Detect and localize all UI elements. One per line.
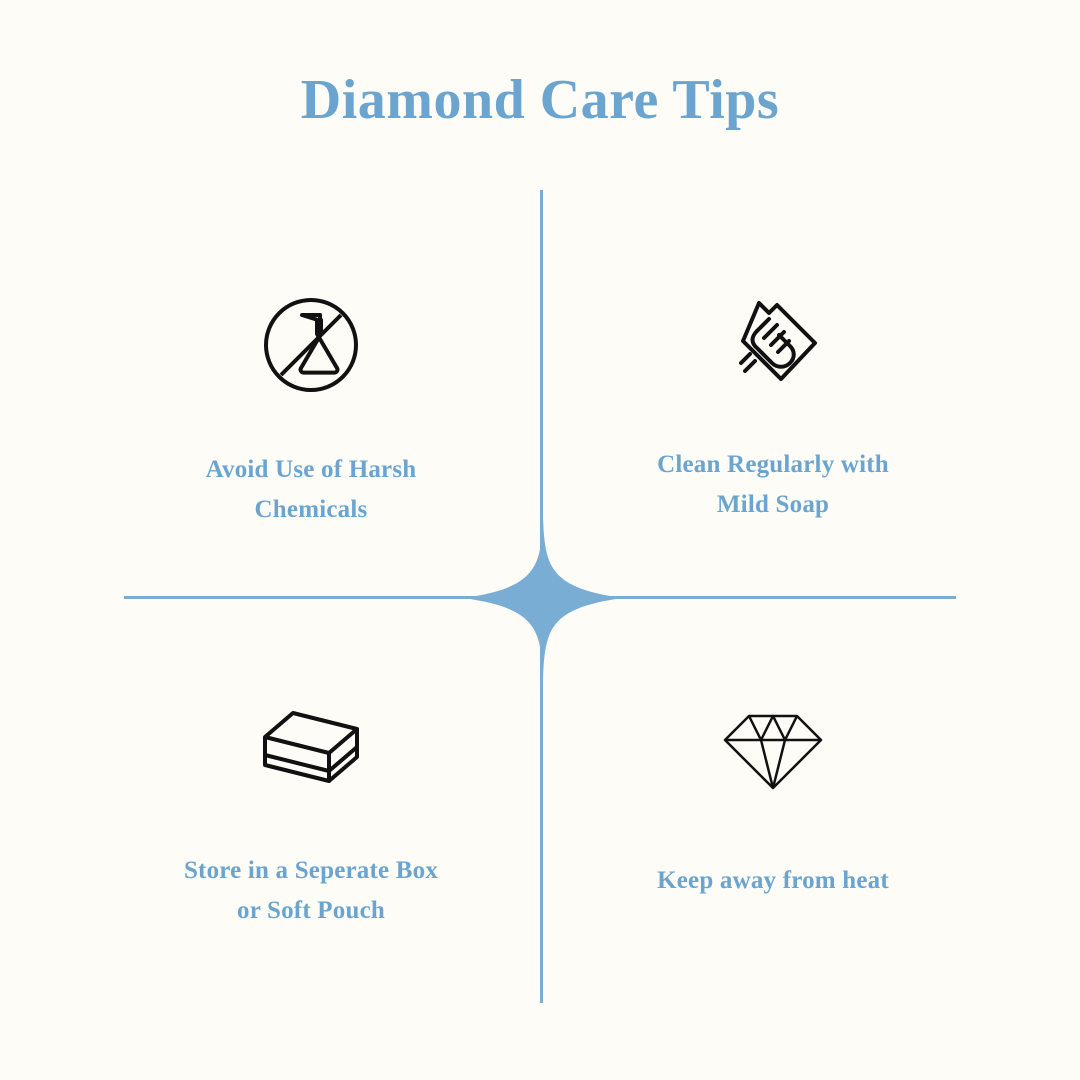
sparkle-icon (463, 518, 623, 678)
jewelry-box-icon (96, 695, 526, 805)
tip-card-top-left: Avoid Use of Harsh Chemicals (96, 290, 526, 530)
tip-label-top-left: Avoid Use of Harsh Chemicals (96, 450, 526, 530)
tip-label-bottom-right: Keep away from heat (558, 861, 988, 901)
diamond-care-tips-poster: Diamond Care Tips Avoid Use of Harsh Che… (0, 0, 1080, 1080)
tip-label-bottom-left: Store in a Seperate Box or Soft Pouch (96, 851, 526, 931)
page-title: Diamond Care Tips (0, 70, 1080, 132)
no-chemicals-flask-icon (96, 290, 526, 400)
hand-wiping-cloth-icon (558, 290, 988, 400)
diamond-icon (558, 695, 988, 805)
tip-card-top-right: Clean Regularly with Mild Soap (558, 290, 988, 525)
tip-card-bottom-right: Keep away from heat (558, 695, 988, 901)
tip-card-bottom-left: Store in a Seperate Box or Soft Pouch (96, 695, 526, 931)
tip-label-top-right: Clean Regularly with Mild Soap (558, 445, 988, 525)
